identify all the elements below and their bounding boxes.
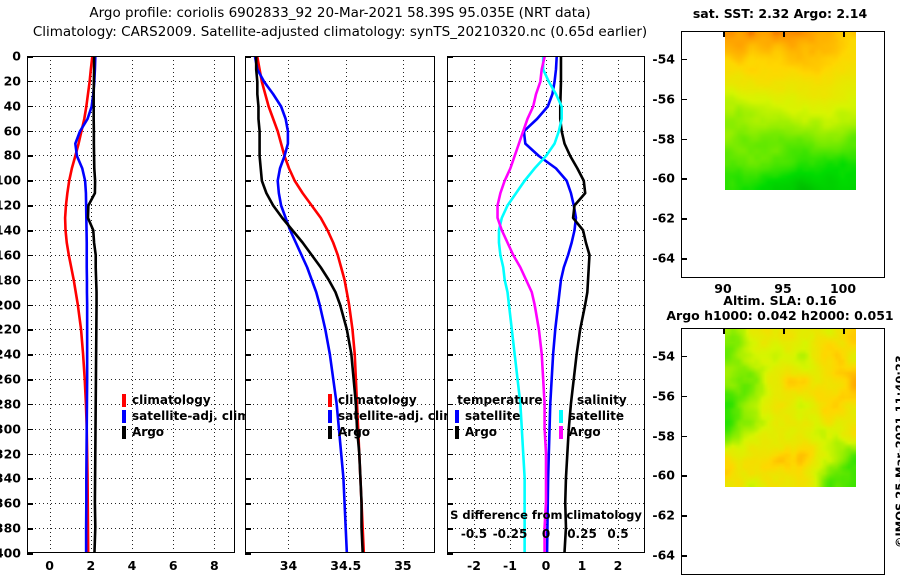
y-axis-tick [245,255,251,257]
y-axis-tick [245,553,251,555]
y-axis-tick [27,280,33,282]
difference-top-axis-label: S difference from climatology [447,508,645,522]
y-axis-tick [447,180,453,182]
legend-color-swatch [328,410,332,423]
depth-tick-label: 400 [0,546,21,561]
sla-map-y-labels: -54-56-58-60-62-64 [645,328,677,575]
map-y-tick-label: -56 [652,388,675,403]
page-title: Argo profile: coriolis 6902833_92 20-Mar… [0,4,680,42]
x-tick-label: 1 [578,558,587,573]
sla-map-title-line1: Altim. SLA: 0.16 [660,293,900,308]
map-y-tick-label: -64 [652,251,675,266]
y-axis-tick [27,429,33,431]
difference-legend: temperaturesatelliteArgosalinitysatellit… [455,392,645,440]
legend-color-swatch [559,426,563,439]
title-line-1: Argo profile: coriolis 6902833_92 20-Mar… [0,4,680,23]
depth-tick-label: 0 [12,49,21,64]
legend-label: Argo [465,424,497,440]
map-y-tick [681,396,687,398]
depth-tick-label: 20 [4,73,21,88]
legend-color-swatch [559,410,563,423]
map-y-tick [681,515,687,517]
map-x-tick [723,328,725,334]
depth-tick-label: 300 [0,421,21,436]
map-y-tick-label: -60 [652,468,675,483]
y-axis-tick [245,81,251,83]
map-x-tick [783,328,785,334]
legend-label: climatology [338,392,417,408]
sla-map-title: Altim. SLA: 0.16 Argo h1000: 0.042 h2000… [660,293,900,323]
x-tick-label: 0.25 [567,527,597,541]
legend-item: satellite-adj. clim. [122,408,254,424]
map-x-tick [783,31,785,37]
map-y-tick-label: -58 [652,428,675,443]
x-tick-label: 2 [614,558,623,573]
title-line-2: Climatology: CARS2009. Satellite-adjuste… [0,23,680,42]
sla-map-ticks [681,328,885,575]
depth-tick-label: 280 [0,396,21,411]
y-axis-tick [447,429,453,431]
y-axis-tick [447,230,453,232]
x-tick-label: 0.5 [607,527,628,541]
y-axis-tick [447,503,453,505]
legend-label: Argo [132,424,164,440]
y-axis-tick [27,379,33,381]
y-axis-tick [245,155,251,157]
x-tick-label: -0.25 [493,527,528,541]
depth-tick-label: 100 [0,173,21,188]
difference-y-ticks [447,56,645,553]
y-axis-tick [447,56,453,58]
legend-item: climatology [122,392,254,408]
y-axis-tick [27,478,33,480]
legend-label: satellite [569,408,624,424]
y-axis-tick [27,131,33,133]
x-tick-label: 0 [542,527,550,541]
x-tick-label: 34.5 [330,558,361,573]
legend-item: satellite-adj. clim. [328,408,460,424]
y-axis-tick [27,205,33,207]
y-axis-tick [245,131,251,133]
legend-color-swatch [122,410,126,423]
y-axis-tick [447,329,453,331]
y-axis-tick [447,131,453,133]
depth-tick-label: 380 [0,521,21,536]
y-axis-tick [447,205,453,207]
map-x-tick [843,31,845,37]
legend-label: Argo [338,424,370,440]
y-axis-tick [447,354,453,356]
y-axis-tick [447,379,453,381]
temperature-x-labels: 02468 [27,556,235,576]
depth-tick-label: 200 [0,297,21,312]
legend-color-swatch [455,410,459,423]
y-axis-tick [245,478,251,480]
y-axis-tick [245,379,251,381]
y-axis-tick [245,503,251,505]
map-y-tick-label: -64 [652,548,675,563]
depth-tick-label: 60 [4,123,21,138]
sst-map-ticks [681,31,885,278]
depth-axis-labels: 0204060801001201401601802002202402602803… [0,56,24,553]
y-axis-tick [27,255,33,257]
depth-tick-label: 180 [0,272,21,287]
y-axis-tick [27,305,33,307]
map-x-tick [843,328,845,334]
y-axis-tick [245,230,251,232]
x-tick-label: 0 [542,558,551,573]
x-tick-label: 4 [128,558,137,573]
y-axis-tick [27,454,33,456]
y-axis-tick [27,81,33,83]
map-x-tick [723,31,725,37]
y-axis-tick [27,230,33,232]
map-y-tick-label: -60 [652,171,675,186]
map-y-tick [681,436,687,438]
depth-tick-label: 160 [0,247,21,262]
x-tick-label: -0.5 [461,527,487,541]
x-tick-label: -2 [467,558,481,573]
y-axis-tick [245,404,251,406]
legend-group-header: temperature [455,392,559,408]
y-axis-tick [27,354,33,356]
depth-tick-label: 140 [0,222,21,237]
sla-map-title-line2: Argo h1000: 0.042 h2000: 0.051 [660,308,900,323]
depth-tick-label: 120 [0,198,21,213]
y-axis-tick [447,478,453,480]
map-y-tick [681,59,687,61]
salinity-x-labels: 3434.535 [245,556,435,576]
difference-temperature-labels: -2-1012 [447,556,645,576]
difference-salinity-labels: -0.5-0.2500.250.5 [447,525,645,543]
map-y-tick [681,356,687,358]
temperature-y-ticks [27,56,235,553]
depth-tick-label: 340 [0,471,21,486]
depth-tick-label: 320 [0,446,21,461]
legend-item: satellite [559,408,645,424]
map-y-tick [681,178,687,180]
x-tick-label: -1 [503,558,517,573]
map-y-tick [681,258,687,260]
y-axis-tick [27,553,33,555]
legend-item: satellite [455,408,559,424]
depth-tick-label: 260 [0,372,21,387]
y-axis-tick [447,305,453,307]
map-y-tick [681,555,687,557]
y-axis-tick [27,503,33,505]
legend-label: climatology [132,392,211,408]
map-y-tick-label: -54 [652,51,675,66]
y-axis-tick [245,329,251,331]
copyright-label: ©IMOS 25-Mar-2021 11:40:23 [893,355,900,548]
y-axis-tick [27,404,33,406]
y-axis-tick [27,180,33,182]
y-axis-tick [245,528,251,530]
legend-label: satellite-adj. clim. [338,408,460,424]
y-axis-tick [447,454,453,456]
y-axis-tick [245,205,251,207]
x-tick-label: 6 [169,558,178,573]
legend-color-swatch [455,426,459,439]
y-axis-tick [447,106,453,108]
y-axis-tick [245,56,251,58]
x-tick-label: 8 [210,558,219,573]
map-y-tick-label: -54 [652,348,675,363]
map-y-tick [681,475,687,477]
x-tick-label: 0 [45,558,54,573]
legend-group-temperature: temperaturesatelliteArgo [455,392,559,440]
y-axis-tick [245,180,251,182]
y-axis-tick [447,81,453,83]
map-y-tick [681,99,687,101]
sst-map-y-labels: -54-56-58-60-62-64 [645,31,677,278]
y-axis-tick [245,305,251,307]
y-axis-tick [27,56,33,58]
legend-label: satellite-adj. clim. [132,408,254,424]
y-axis-tick [27,155,33,157]
y-axis-tick [245,280,251,282]
sst-map-title: sat. SST: 2.32 Argo: 2.14 [660,6,900,21]
y-axis-tick [27,528,33,530]
legend-group-salinity: salinitysatelliteArgo [559,392,645,440]
y-axis-tick [245,106,251,108]
y-axis-tick [447,553,453,555]
depth-tick-label: 360 [0,496,21,511]
depth-tick-label: 240 [0,347,21,362]
depth-tick-label: 80 [4,148,21,163]
legend-label: Argo [569,424,601,440]
depth-tick-label: 220 [0,322,21,337]
legend-color-swatch [122,426,126,439]
salinity-y-ticks [245,56,435,553]
x-tick-label: 35 [394,558,411,573]
legend-item: Argo [328,424,460,440]
y-axis-tick [27,329,33,331]
legend-color-swatch [328,394,332,407]
map-y-tick-label: -62 [652,211,675,226]
legend-item: Argo [122,424,254,440]
y-axis-tick [27,106,33,108]
x-tick-label: 34 [280,558,297,573]
map-y-tick [681,139,687,141]
y-axis-tick [447,280,453,282]
legend-color-swatch [122,394,126,407]
y-axis-tick [245,429,251,431]
legend-item: climatology [328,392,460,408]
salinity-legend: climatologysatellite-adj. clim.Argo [328,392,460,440]
map-y-tick-label: -56 [652,91,675,106]
y-axis-tick [245,354,251,356]
x-tick-label: 2 [86,558,95,573]
map-y-tick [681,218,687,220]
map-y-tick-label: -62 [652,508,675,523]
depth-tick-label: 40 [4,98,21,113]
legend-color-swatch [328,426,332,439]
legend-item: Argo [559,424,645,440]
y-axis-tick [447,155,453,157]
y-axis-tick [447,404,453,406]
map-y-tick-label: -58 [652,131,675,146]
temperature-legend: climatologysatellite-adj. clim.Argo [122,392,254,440]
legend-label: satellite [465,408,520,424]
legend-group-header: salinity [559,392,645,408]
legend-item: Argo [455,424,559,440]
y-axis-tick [245,454,251,456]
y-axis-tick [447,255,453,257]
